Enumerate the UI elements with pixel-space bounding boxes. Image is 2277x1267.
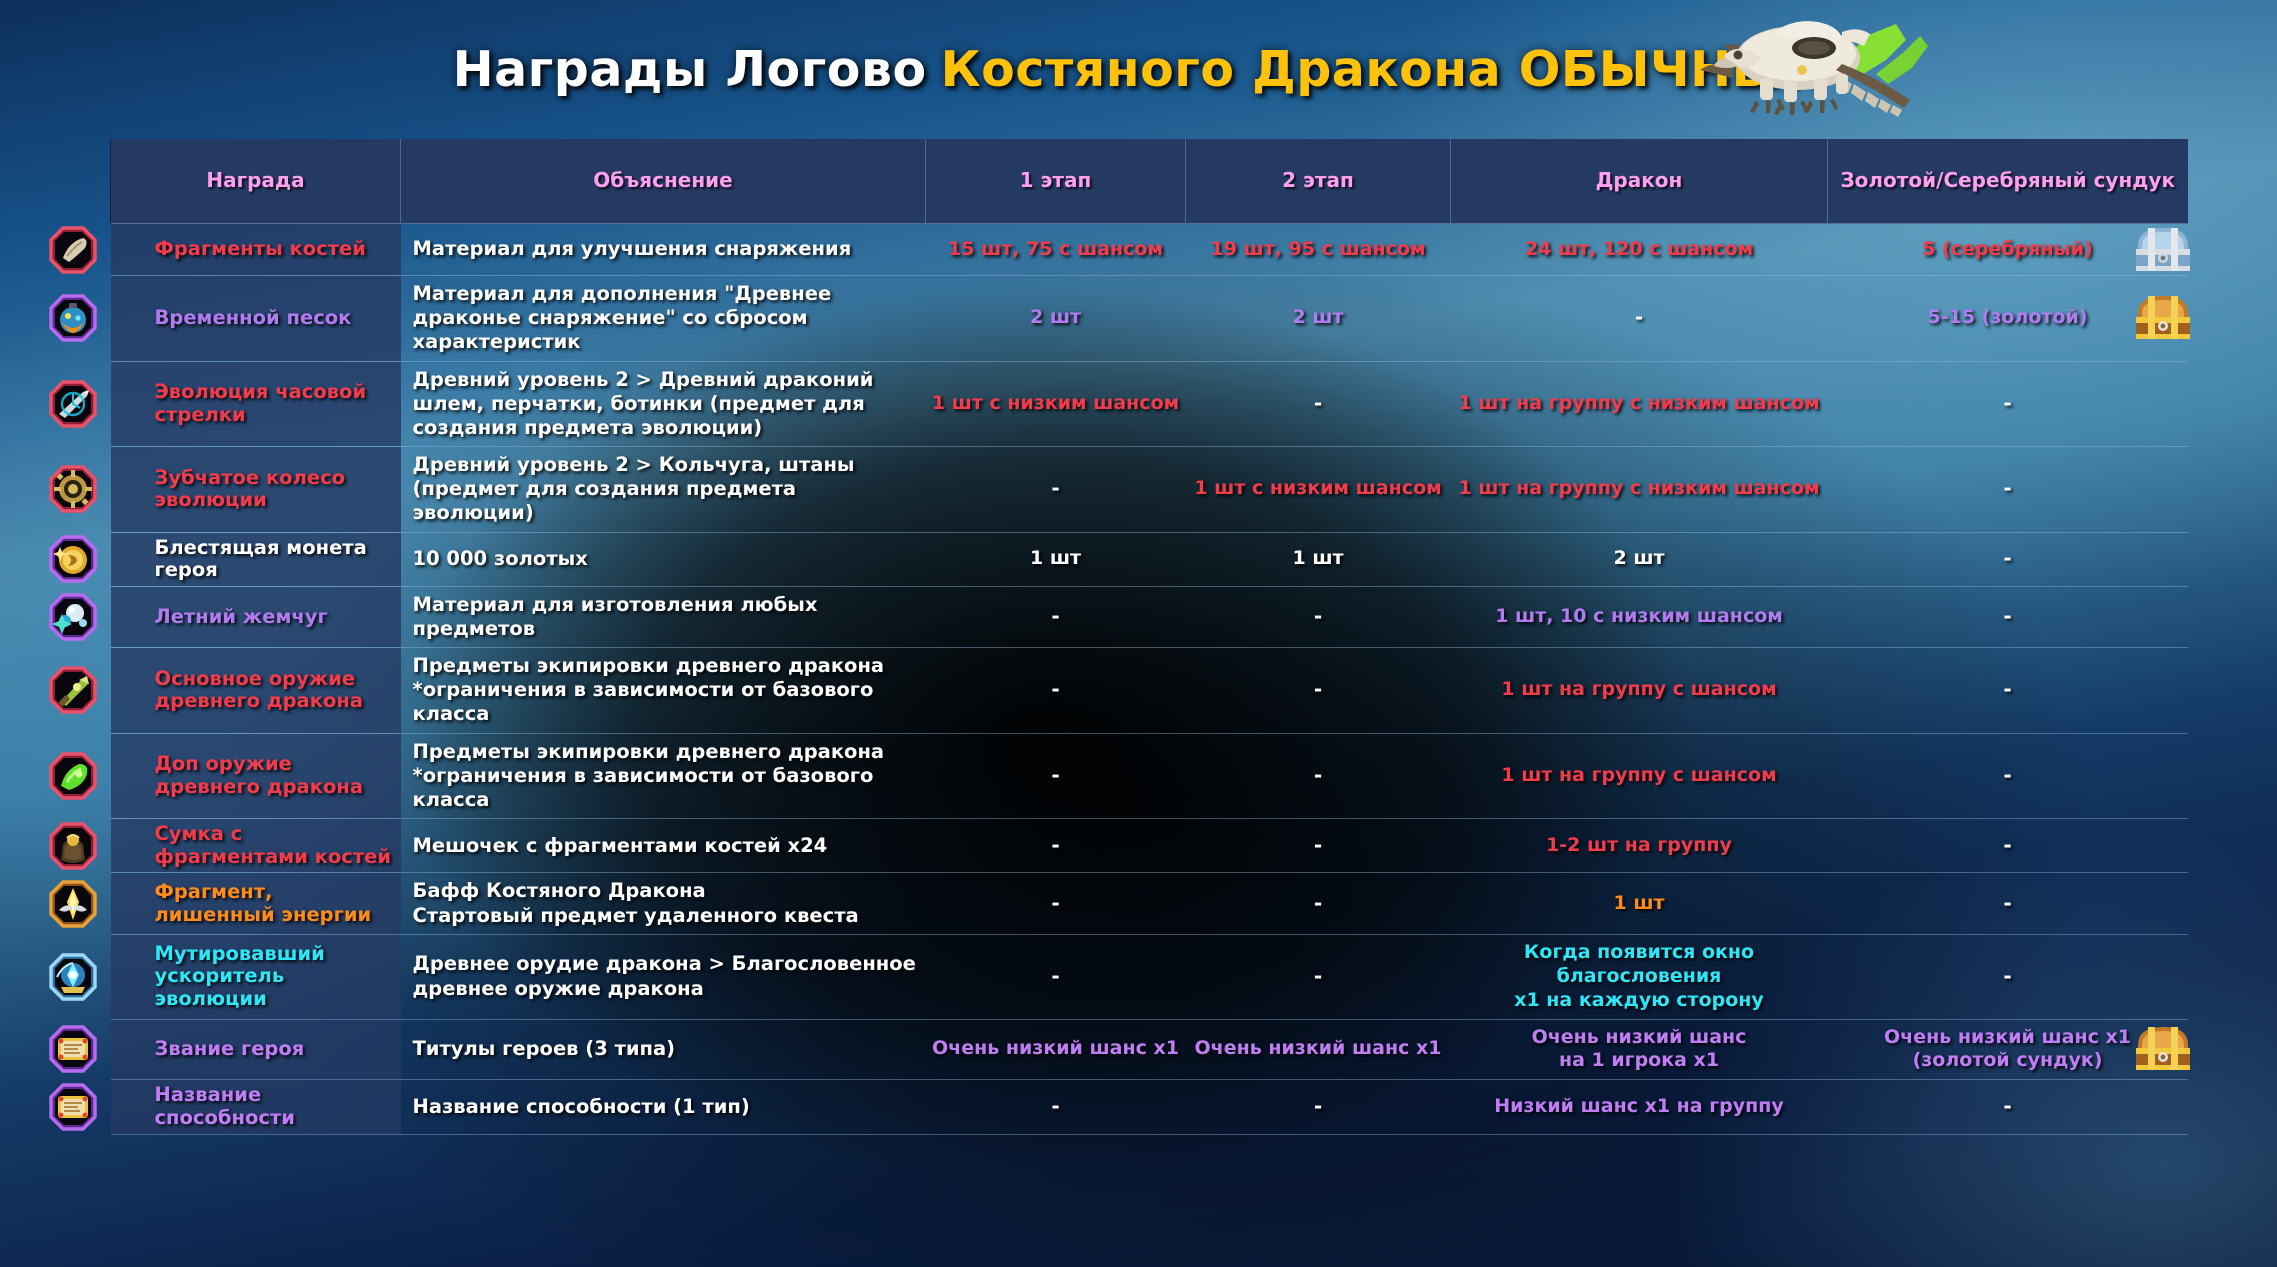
dragon-cell-value: - <box>1635 305 1643 329</box>
hero-title-scroll-icon <box>49 1025 97 1073</box>
bone-fragment-icon <box>49 226 97 274</box>
gold-chest-icon <box>2130 1019 2196 1079</box>
ancient-dragon-main-weapon-icon <box>49 666 97 714</box>
dragon-cell-value: 2 шт <box>1613 547 1664 569</box>
summer-pearl-icon <box>49 593 97 641</box>
stage1-cell: - <box>926 447 1186 533</box>
energy-drained-fragment-icon <box>49 880 97 928</box>
table-header-row: Награда Объяснение 1 этап 2 этап Дракон … <box>111 139 2188 224</box>
chest-cell-value: 5-15 (золотой) <box>1928 306 2088 328</box>
reward-description: 10 000 золотых <box>401 532 926 586</box>
time-sand-icon <box>49 294 97 342</box>
dragon-cell-value: 1 шт на группу с низким шансом <box>1458 392 1819 414</box>
chest-cell: - <box>1828 586 2188 647</box>
table-body: Фрагменты костейМатериал для улучшения с… <box>111 224 2188 1135</box>
chest-cell-value: - <box>2003 677 2011 701</box>
stage2-cell: - <box>1186 1080 1451 1134</box>
reward-name-label: Временной песок <box>155 307 352 330</box>
reward-name-cell: Эволюция часовой стрелки <box>111 361 401 447</box>
dragon-cell: Очень низкий шансна 1 игрока х1 <box>1451 1019 1828 1080</box>
reward-description: Древний уровень 2 > Кольчуга, штаны (пре… <box>401 447 926 533</box>
table-row: Мутировавший ускоритель эволюцииДревнее … <box>111 934 2188 1019</box>
bone-dragon-image <box>1690 2 1950 120</box>
ancient-dragon-sub-weapon-icon <box>49 752 97 800</box>
reward-name-label: Зубчатое колесо эволюции <box>155 467 397 512</box>
dragon-cell-value: Очень низкий шансна 1 игрока х1 <box>1532 1026 1747 1072</box>
dragon-cell: 1-2 шт на группу <box>1451 819 1828 873</box>
stage2-cell-value: - <box>1314 604 1322 628</box>
dragon-cell: - <box>1451 276 1828 362</box>
chest-cell: - <box>1828 447 2188 533</box>
reward-description: Древний уровень 2 > Древний драконий шле… <box>401 361 926 447</box>
chest-cell: - <box>1828 648 2188 734</box>
reward-name-label: Эволюция часовой стрелки <box>155 381 397 426</box>
reward-name-label: Доп оружие древнего дракона <box>155 753 397 798</box>
dragon-cell-value: 24 шт, 120 с шансом <box>1525 238 1753 260</box>
table-row: Фрагменты костейМатериал для улучшения с… <box>111 224 2188 276</box>
col-header-explanation: Объяснение <box>401 139 926 224</box>
stage1-cell: Очень низкий шанс х1 <box>926 1019 1186 1080</box>
stage1-cell: - <box>926 873 1186 934</box>
chest-cell: - <box>1828 532 2188 586</box>
reward-name-cell: Основное оружие древнего дракона <box>111 648 401 734</box>
stage2-cell-value: Очень низкий шанс х1 <box>1195 1037 1442 1059</box>
dragon-cell: 1 шт, 10 с низким шансом <box>1451 586 1828 647</box>
stage1-cell: 2 шт <box>926 276 1186 362</box>
stage2-cell: 2 шт <box>1186 276 1451 362</box>
stage1-cell-value: - <box>1051 677 1059 701</box>
table-row: Эволюция часовой стрелкиДревний уровень … <box>111 361 2188 447</box>
dragon-cell: 2 шт <box>1451 532 1828 586</box>
reward-description: Предметы экипировки древнего дракона*огр… <box>401 648 926 734</box>
stage1-cell-value: - <box>1051 1094 1059 1118</box>
dragon-cell-value: 1 шт на группу с шансом <box>1501 678 1776 700</box>
reward-description: Материал для изготовления любых предмето… <box>401 586 926 647</box>
chest-cell: - <box>1828 934 2188 1019</box>
chest-cell-value: - <box>2003 964 2011 988</box>
dragon-cell-value: 1 шт, 10 с низким шансом <box>1495 605 1783 627</box>
reward-description: Бафф Костяного ДраконаСтартовый предмет … <box>401 873 926 934</box>
stage2-cell-value: 2 шт <box>1292 306 1343 328</box>
stage2-cell: - <box>1186 361 1451 447</box>
stage1-cell: 1 шт <box>926 532 1186 586</box>
reward-name-label: Название способности <box>155 1084 397 1129</box>
chest-cell: Очень низкий шанс х1(золотой сундук) <box>1828 1019 2188 1080</box>
stage1-cell: - <box>926 733 1186 819</box>
dragon-cell: 1 шт на группу с шансом <box>1451 648 1828 734</box>
reward-name-cell: Блестящая монета героя <box>111 532 401 586</box>
col-header-dragon: Дракон <box>1451 139 1828 224</box>
rewards-table: Награда Объяснение 1 этап 2 этап Дракон … <box>110 139 2188 1135</box>
stage1-cell: 1 шт с низким шансом <box>926 361 1186 447</box>
reward-name-label: Звание героя <box>155 1038 305 1061</box>
reward-description: Древнее орудие дракона > Благословенное … <box>401 934 926 1019</box>
table-row: Зубчатое колесо эволюцииДревний уровень … <box>111 447 2188 533</box>
chest-cell-value: 5 (серебряный) <box>1922 238 2093 260</box>
dragon-cell-value: Низкий шанс х1 на группу <box>1494 1095 1784 1117</box>
stage2-cell-value: - <box>1314 391 1322 415</box>
reward-name-cell: Зубчатое колесо эволюции <box>111 447 401 533</box>
dragon-cell: 1 шт <box>1451 873 1828 934</box>
reward-name-cell: Название способности <box>111 1080 401 1134</box>
stage2-cell: 19 шт, 95 с шансом <box>1186 224 1451 276</box>
reward-name-cell: Звание героя <box>111 1019 401 1080</box>
stage2-cell: - <box>1186 819 1451 873</box>
reward-name-label: Летний жемчуг <box>155 606 328 629</box>
stage2-cell-value: - <box>1314 964 1322 988</box>
stage1-cell: - <box>926 934 1186 1019</box>
col-header-stage2: 2 этап <box>1186 139 1451 224</box>
reward-description: Название способности (1 тип) <box>401 1080 926 1134</box>
stage1-cell-value: Очень низкий шанс х1 <box>932 1037 1179 1059</box>
table-row: Сумка с фрагментами костейМешочек с фраг… <box>111 819 2188 873</box>
stage2-cell-value: - <box>1314 891 1322 915</box>
silver-chest-icon <box>2130 220 2196 280</box>
stage1-cell-value: - <box>1051 604 1059 628</box>
dragon-cell-value: 1 шт <box>1613 892 1664 914</box>
stage1-cell-value: - <box>1051 833 1059 857</box>
stage1-cell-value: - <box>1051 763 1059 787</box>
reward-name-cell: Временной песок <box>111 276 401 362</box>
chest-cell-value: - <box>2003 546 2011 570</box>
page-title-part1: Награды Логово <box>453 41 927 98</box>
chest-cell-value: - <box>2003 1094 2011 1118</box>
shiny-hero-coin-icon <box>49 535 97 583</box>
table-row: Доп оружие древнего драконаПредметы экип… <box>111 733 2188 819</box>
chest-cell-value: - <box>2003 476 2011 500</box>
chest-cell: - <box>1828 819 2188 873</box>
stage2-cell: - <box>1186 873 1451 934</box>
stage2-cell-value: 1 шт с низким шансом <box>1194 477 1441 499</box>
mutated-evolution-accelerator-icon <box>49 953 97 1001</box>
col-header-reward: Награда <box>111 139 401 224</box>
reward-name-label: Сумка с фрагментами костей <box>155 823 397 868</box>
stage2-cell-value: - <box>1314 677 1322 701</box>
reward-description: Материал для дополнения "Древнее драконь… <box>401 276 926 362</box>
stage1-cell: - <box>926 1080 1186 1134</box>
dragon-cell: 24 шт, 120 с шансом <box>1451 224 1828 276</box>
table-row: Летний жемчугМатериал для изготовления л… <box>111 586 2188 647</box>
chest-cell-value: - <box>2003 891 2011 915</box>
stage1-cell: - <box>926 648 1186 734</box>
stage2-cell: 1 шт с низким шансом <box>1186 447 1451 533</box>
stage2-cell-value: - <box>1314 833 1322 857</box>
chest-cell-value: - <box>2003 833 2011 857</box>
reward-name-cell: Фрагменты костей <box>111 224 401 276</box>
chest-cell: - <box>1828 361 2188 447</box>
chest-cell-value: - <box>2003 763 2011 787</box>
reward-description: Титулы героев (3 типа) <box>401 1019 926 1080</box>
dragon-cell: Когда появится окно благословениях1 на к… <box>1451 934 1828 1019</box>
reward-name-cell: Летний жемчуг <box>111 586 401 647</box>
chest-cell: 5 (серебряный) <box>1828 224 2188 276</box>
stage2-cell-value: - <box>1314 763 1322 787</box>
stage2-cell: - <box>1186 733 1451 819</box>
chest-cell: 5-15 (золотой) <box>1828 276 2188 362</box>
table-row: Фрагмент, лишенный энергииБафф Костяного… <box>111 873 2188 934</box>
table-row: Основное оружие древнего драконаПредметы… <box>111 648 2188 734</box>
bone-fragment-bag-icon <box>49 822 97 870</box>
reward-name-label: Блестящая монета героя <box>155 537 397 582</box>
reward-name-label: Фрагменты костей <box>155 238 366 261</box>
stage2-cell-value: - <box>1314 1094 1322 1118</box>
reward-name-cell: Сумка с фрагментами костей <box>111 819 401 873</box>
chest-cell-value: - <box>2003 391 2011 415</box>
col-header-chest: Золотой/Серебряный сундук <box>1828 139 2188 224</box>
stage1-cell: - <box>926 586 1186 647</box>
reward-description: Предметы экипировки древнего дракона*огр… <box>401 733 926 819</box>
reward-name-label: Фрагмент, лишенный энергии <box>155 881 397 926</box>
reward-name-label: Мутировавший ускоритель эволюции <box>155 943 397 1011</box>
stage1-cell: 15 шт, 75 с шансом <box>926 224 1186 276</box>
dragon-cell-value: Когда появится окно благословениях1 на к… <box>1514 941 1764 1011</box>
stage1-cell-value: 1 шт <box>1030 547 1081 569</box>
stage1-cell-value: 2 шт <box>1030 306 1081 328</box>
dragon-cell: 1 шт на группу с низким шансом <box>1451 447 1828 533</box>
chest-cell: - <box>1828 1080 2188 1134</box>
dragon-cell: 1 шт на группу с шансом <box>1451 733 1828 819</box>
stage1-cell-value: 15 шт, 75 с шансом <box>948 238 1163 260</box>
reward-name-cell: Мутировавший ускоритель эволюции <box>111 934 401 1019</box>
chest-cell-value: Очень низкий шанс х1(золотой сундук) <box>1884 1026 2131 1072</box>
stage1-cell-value: - <box>1051 891 1059 915</box>
chest-cell: - <box>1828 733 2188 819</box>
reward-description: Материал для улучшения снаряжения <box>401 224 926 276</box>
dragon-cell-value: 1-2 шт на группу <box>1546 834 1732 856</box>
chest-cell-value: - <box>2003 604 2011 628</box>
stage2-cell: - <box>1186 586 1451 647</box>
stage2-cell: 1 шт <box>1186 532 1451 586</box>
table-row: Звание герояТитулы героев (3 типа)Очень … <box>111 1019 2188 1080</box>
reward-name-label: Основное оружие древнего дракона <box>155 668 397 713</box>
evolution-gear-icon <box>49 465 97 513</box>
dragon-cell: 1 шт на группу с низким шансом <box>1451 361 1828 447</box>
gold-chest-icon <box>2130 288 2196 348</box>
ability-name-scroll-icon <box>49 1083 97 1131</box>
table-row: Название способностиНазвание способности… <box>111 1080 2188 1134</box>
dragon-cell: Низкий шанс х1 на группу <box>1451 1080 1828 1134</box>
reward-description: Мешочек с фрагментами костей x24 <box>401 819 926 873</box>
stage2-cell: Очень низкий шанс х1 <box>1186 1019 1451 1080</box>
stage2-cell-value: 19 шт, 95 с шансом <box>1211 238 1426 260</box>
table-row: Временной песокМатериал для дополнения "… <box>111 276 2188 362</box>
dragon-cell-value: 1 шт на группу с низким шансом <box>1458 477 1819 499</box>
reward-name-cell: Фрагмент, лишенный энергии <box>111 873 401 934</box>
col-header-stage1: 1 этап <box>926 139 1186 224</box>
dragon-cell-value: 1 шт на группу с шансом <box>1501 764 1776 786</box>
stage2-cell-value: 1 шт <box>1292 547 1343 569</box>
table-row: Блестящая монета героя10 000 золотых1 шт… <box>111 532 2188 586</box>
stage2-cell: - <box>1186 934 1451 1019</box>
stage1-cell-value: - <box>1051 476 1059 500</box>
stage2-cell: - <box>1186 648 1451 734</box>
stage1-cell: - <box>926 819 1186 873</box>
clock-hand-evolution-icon <box>49 380 97 428</box>
stage1-cell-value: 1 шт с низким шансом <box>932 392 1179 414</box>
stage1-cell-value: - <box>1051 964 1059 988</box>
reward-name-cell: Доп оружие древнего дракона <box>111 733 401 819</box>
chest-cell: - <box>1828 873 2188 934</box>
